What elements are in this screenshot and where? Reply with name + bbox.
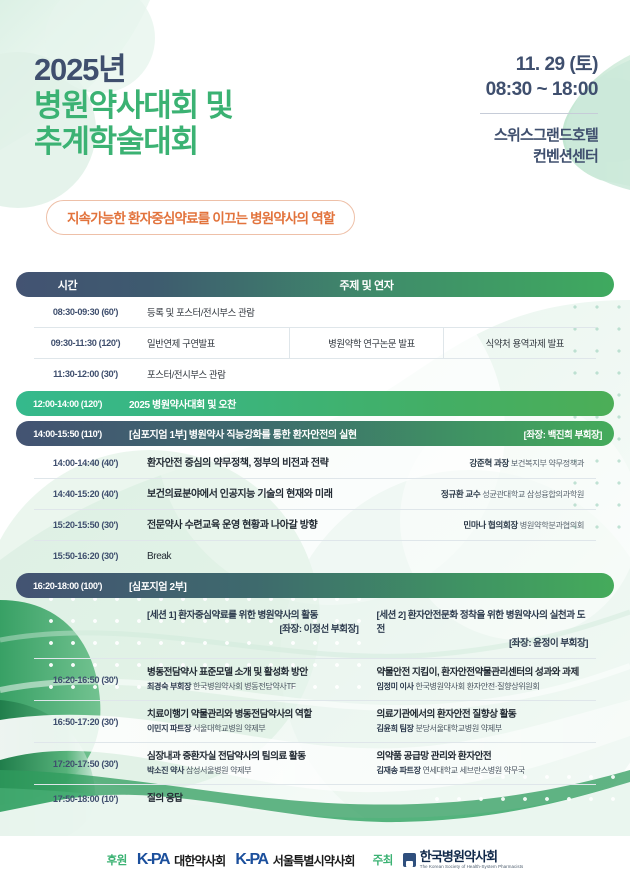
talk-speaker: 최경숙 부회장 한국병원약사회 병동전담약사TF xyxy=(147,681,359,693)
row-content: Break xyxy=(137,541,596,571)
session-1-talk: 심장내과 중환자실 전담약사의 팀의료 활동 박소진 약사 삼성서울병원 약제부 xyxy=(137,743,367,784)
speaker-name: 강준혁 과장 xyxy=(469,458,509,468)
talk-title: 환자안전 중심의 약무정책, 정부의 비전과 전략 xyxy=(137,451,469,476)
row-time: 09:30-11:30 (120') xyxy=(34,328,137,358)
row-content-col1: 일반연제 구연발표 xyxy=(137,328,289,358)
sponsor-name-2: 서울특별시약사회 xyxy=(273,852,355,869)
session-2-talk: 의약품 공급망 관리와 환자안전 김재송 파트장 연세대학교 세브란스병원 약무… xyxy=(367,743,597,784)
session-2-talk: 약물안전 지킴이, 환자안전약물관리센터의 성과와 과제 임정미 이사 한국병원… xyxy=(367,659,597,700)
row-content: 포스터/전시부스 관람 xyxy=(137,359,596,389)
band-title: [심포지엄 1부] 병원약사 직능강화를 통한 환자안전의 실현 xyxy=(119,426,524,441)
talk-speaker: 김재송 파트장 연세대학교 세브란스병원 약무국 xyxy=(377,765,589,777)
speaker-affiliation: 병원약학분과협의회 xyxy=(520,521,584,530)
session-2-header: [세션 2] 환자안전문화 정착을 위한 병원약사의 실천과 도전 [좌장: 윤… xyxy=(367,602,597,658)
speaker-affiliation: 한국병원약사회 병동전담약사TF xyxy=(193,682,296,691)
speaker-affiliation: 보건복지부 약무정책과 xyxy=(511,459,584,468)
talk-title: 의료기관에서의 환자안전 질향상 활동 xyxy=(377,708,589,721)
session-1-title: [세션 1] 환자중심약료를 위한 병원약사의 활동 xyxy=(147,609,359,623)
talk-speaker: 박소진 약사 삼성서울병원 약제부 xyxy=(147,765,359,777)
logo-kpa-seoul: K-PA 서울특별시약사회 xyxy=(235,851,354,869)
speaker-affiliation: 연세대학교 세브란스병원 약무국 xyxy=(423,766,525,775)
host-name-kr: 한국병원약사회 xyxy=(420,850,524,863)
speaker-name: 김재송 파트장 xyxy=(377,766,421,775)
table-row: 09:30-11:30 (120') 일반연제 구연발표 병원약학 연구논문 발… xyxy=(34,328,596,359)
row-content-col3: 식약처 용역과제 발표 xyxy=(443,328,596,358)
event-date: 11. 29 (토) xyxy=(480,52,598,77)
band-time: 14:00-15:50 (110') xyxy=(16,429,119,439)
band-row-lunch: 12:00-14:00 (120') 2025 병원약사대회 및 오찬 xyxy=(16,391,614,416)
session-1-header: [세션 1] 환자중심약료를 위한 병원약사의 활동 [좌장: 이정선 부회장] xyxy=(137,602,367,658)
band-row-symposium-2: 16:20-18:00 (100') [심포지엄 2부] xyxy=(16,573,614,598)
row-time: 16:50-17:20 (30') xyxy=(34,701,137,742)
talk-speaker: 임정미 이사 한국병원약사회 환자안전·질향상위원회 xyxy=(377,681,589,693)
speaker-name: 박소진 약사 xyxy=(147,766,184,775)
event-meta: 11. 29 (토) 08:30 ~ 18:00 스위스그랜드호텔 컨벤션센터 xyxy=(480,52,598,167)
speaker-name: 임정미 이사 xyxy=(377,682,414,691)
title-block: 2025년 병원약사대회 및 추계학술대회 xyxy=(34,52,233,160)
session-1-chair: [좌장: 이정선 부회장] xyxy=(147,623,359,637)
row-content: 등록 및 포스터/전시부스 관람 xyxy=(137,297,596,327)
talk-speaker: 강준혁 과장 보건복지부 약무정책과 xyxy=(469,449,596,478)
kshp-logo-icon xyxy=(403,853,416,867)
talk-title: 병동전담약사 표준모델 소개 및 활성화 방안 xyxy=(147,666,359,679)
qa-cell: 질의 응답 xyxy=(137,785,596,812)
row-time: 17:20-17:50 (30') xyxy=(34,743,137,784)
band-title: [심포지엄 2부] xyxy=(119,578,602,593)
session-2-title: [세션 2] 환자안전문화 정착을 위한 병원약사의 실천과 도전 xyxy=(377,609,589,637)
logo-kpa-korea: K-PA 대한약사회 xyxy=(137,851,226,869)
venue-line-1: 스위스그랜드호텔 xyxy=(480,125,598,146)
row-time: 08:30-09:30 (60') xyxy=(34,297,137,327)
table-row: 17:20-17:50 (30') 심장내과 중환자실 전담약사의 팀의료 활동… xyxy=(34,743,596,785)
title-year: 2025년 xyxy=(34,52,233,88)
talk-title: 약물안전 지킴이, 환자안전약물관리센터의 성과와 과제 xyxy=(377,666,589,679)
poster-root: 2025년 병원약사대회 및 추계학술대회 지속가능한 환자중심약료를 이끄는 … xyxy=(0,0,630,896)
row-time: 11:30-12:00 (30') xyxy=(34,359,137,389)
table-header-bar: 시간 주제 및 연자 xyxy=(16,272,614,297)
table-row: 14:40-15:20 (40') 보건의료분야에서 인공지능 기술의 현재와 … xyxy=(34,479,596,510)
logo-strip: 후원 K-PA 대한약사회 K-PA 서울특별시약사회 주최 한국병원약사회 T… xyxy=(0,832,630,888)
talk-speaker: 정규환 교수 성균관대학교 삼성융합의과학원 xyxy=(441,480,596,509)
row-time: 16:20-16:50 (30') xyxy=(34,659,137,700)
speaker-affiliation: 삼성서울병원 약제부 xyxy=(186,766,251,775)
host-name-en: The Korean Society of Health-System Phar… xyxy=(420,865,524,869)
talk-title: 의약품 공급망 관리와 환자안전 xyxy=(377,750,589,763)
session-2-chair: [좌장: 윤정이 부회장] xyxy=(377,637,589,651)
table-row: 11:30-12:00 (30') 포스터/전시부스 관람 xyxy=(34,359,596,389)
speaker-affiliation: 성균관대학교 삼성융합의과학원 xyxy=(482,490,584,499)
meta-divider xyxy=(480,113,598,114)
row-time: 17:50-18:00 (10') xyxy=(34,785,137,812)
kpa-logo-icon: K-PA xyxy=(137,851,169,869)
session-2-talk: 의료기관에서의 환자안전 질향상 활동 김윤희 팀장 분당서울대학교병원 약제부 xyxy=(367,701,597,742)
band-row-symposium-1: 14:00-15:50 (110') [심포지엄 1부] 병원약사 직능강화를 … xyxy=(16,421,614,446)
talk-title: 전문약사 수련교육 운영 현황과 나아갈 방향 xyxy=(137,513,463,538)
band-time: 12:00-14:00 (120') xyxy=(16,399,119,409)
schedule-table: 시간 주제 및 연자 08:30-09:30 (60') 등록 및 포스터/전시… xyxy=(0,272,630,812)
row-time: 15:50-16:20 (30') xyxy=(34,541,137,571)
speaker-name: 정규환 교수 xyxy=(441,489,481,499)
event-time: 08:30 ~ 18:00 xyxy=(480,77,598,102)
talk-speaker: 김윤희 팀장 분당서울대학교병원 약제부 xyxy=(377,723,589,735)
table-row: 16:50-17:20 (30') 치료이행기 약물관리와 병동전담약사의 역할… xyxy=(34,701,596,743)
table-row: 15:50-16:20 (30') Break xyxy=(34,541,596,571)
venue-line-2: 컨벤션센터 xyxy=(480,146,598,167)
subtitle-pill: 지속가능한 환자중심약료를 이끄는 병원약사의 역할 xyxy=(46,200,355,235)
talk-speaker: 민마나 협의회장 병원약학분과협의회 xyxy=(463,511,596,540)
table-row: 15:20-15:50 (30') 전문약사 수련교육 운영 현황과 나아갈 방… xyxy=(34,510,596,541)
row-time: 15:20-15:50 (30') xyxy=(34,510,137,540)
row-content-col2: 병원약학 연구논문 발표 xyxy=(289,328,442,358)
title-main: 병원약사대회 및 xyxy=(34,88,233,124)
speaker-name: 최경숙 부회장 xyxy=(147,682,191,691)
talk-speaker: 이민지 파트장 서울대학교병원 약제부 xyxy=(147,723,359,735)
kshp-text: 한국병원약사회 The Korean Society of Health-Sys… xyxy=(420,850,524,869)
table-row: 14:00-14:40 (40') 환자안전 중심의 약무정책, 정부의 비전과… xyxy=(34,448,596,479)
talk-title: 치료이행기 약물관리와 병동전담약사의 역할 xyxy=(147,708,359,721)
poster-header: 2025년 병원약사대회 및 추계학술대회 지속가능한 환자중심약료를 이끄는 … xyxy=(0,0,630,48)
table-row: 08:30-09:30 (60') 등록 및 포스터/전시부스 관람 xyxy=(34,297,596,328)
speaker-name: 이민지 파트장 xyxy=(147,724,191,733)
speaker-affiliation: 한국병원약사회 환자안전·질향상위원회 xyxy=(415,682,539,691)
session-header-row: [세션 1] 환자중심약료를 위한 병원약사의 활동 [좌장: 이정선 부회장]… xyxy=(34,602,596,659)
table-header-topic: 주제 및 연자 xyxy=(119,277,614,293)
logo-kshp: 한국병원약사회 The Korean Society of Health-Sys… xyxy=(403,850,524,869)
band-title: 2025 병원약사대회 및 오찬 xyxy=(119,396,602,411)
session-1-talk: 치료이행기 약물관리와 병동전담약사의 역할 이민지 파트장 서울대학교병원 약… xyxy=(137,701,367,742)
row-time: 14:00-14:40 (40') xyxy=(34,448,137,478)
speaker-affiliation: 분당서울대학교병원 약제부 xyxy=(415,724,501,733)
table-row: 16:20-16:50 (30') 병동전담약사 표준모델 소개 및 활성화 방… xyxy=(34,659,596,701)
row-time: 14:40-15:20 (40') xyxy=(34,479,137,509)
talk-title: 질의 응답 xyxy=(147,792,588,805)
row-time xyxy=(34,602,137,658)
band-chair: [좌장: 백진희 부회장] xyxy=(524,427,614,441)
sponsor-name-1: 대한약사회 xyxy=(174,852,225,869)
speaker-name: 김윤희 팀장 xyxy=(377,724,414,733)
talk-title: 심장내과 중환자실 전담약사의 팀의료 활동 xyxy=(147,750,359,763)
host-label: 주최 xyxy=(373,852,393,868)
table-row: 17:50-18:00 (10') 질의 응답 xyxy=(34,785,596,812)
band-time: 16:20-18:00 (100') xyxy=(16,581,119,591)
speaker-affiliation: 서울대학교병원 약제부 xyxy=(193,724,265,733)
kpa-logo-icon: K-PA xyxy=(235,851,267,869)
speaker-name: 민마나 협의회장 xyxy=(463,520,518,530)
session-1-talk: 병동전담약사 표준모델 소개 및 활성화 방안 최경숙 부회장 한국병원약사회 … xyxy=(137,659,367,700)
talk-title: 보건의료분야에서 인공지능 기술의 현재와 미래 xyxy=(137,482,441,507)
sponsor-label: 후원 xyxy=(107,852,127,868)
title-sub: 추계학술대회 xyxy=(34,124,233,160)
table-header-time: 시간 xyxy=(16,277,119,293)
